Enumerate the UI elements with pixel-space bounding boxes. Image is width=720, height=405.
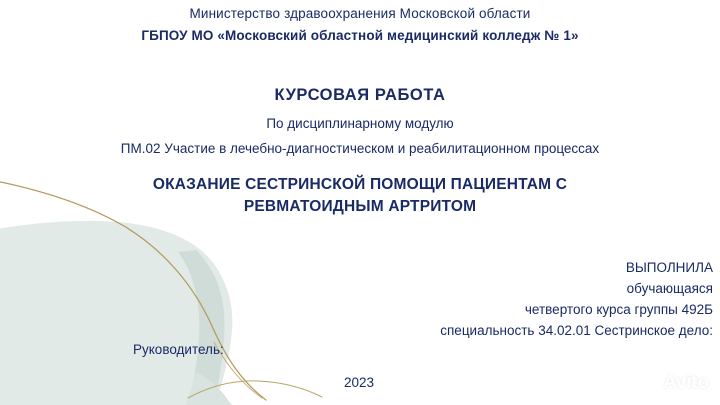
gold-curve-line-secondary <box>188 381 322 398</box>
module-label: По дисциплинарному модулю <box>0 116 720 131</box>
author-status: обучающаяся <box>440 279 713 300</box>
work-type-heading: КУРСОВАЯ РАБОТА <box>0 86 720 105</box>
year-label: 2023 <box>337 375 381 390</box>
supervisor-label: Руководитель: <box>133 342 224 357</box>
author-course-group: четвертого курса группы 492Б <box>440 300 713 321</box>
institution-header: Министерство здравоохранения Московской … <box>0 4 720 45</box>
college-line: ГБПОУ МО «Московский областной медицинск… <box>0 26 720 45</box>
avito-circles-icon <box>641 374 659 392</box>
module-name: ПМ.02 Участие в лечебно-диагностическом … <box>0 141 720 156</box>
page-title-line-1: ОКАЗАНИЕ СЕСТРИНСКОЙ ПОМОЩИ ПАЦИЕНТАМ С <box>0 174 720 196</box>
avito-watermark: Avito <box>641 372 709 394</box>
page-title: ОКАЗАНИЕ СЕСТРИНСКОЙ ПОМОЩИ ПАЦИЕНТАМ С … <box>0 174 720 219</box>
page-title-line-2: РЕВМАТОИДНЫМ АРТРИТОМ <box>0 196 720 218</box>
sage-blob-accent-shape <box>178 250 224 405</box>
presentation-title-slide: Министерство здравоохранения Московской … <box>0 0 720 405</box>
sage-blob-shape <box>0 221 232 405</box>
avito-brand-text: Avito <box>663 372 709 394</box>
author-role: ВЫПОЛНИЛА <box>440 258 713 279</box>
author-specialty: специальность 34.02.01 Сестринское дело: <box>440 321 713 342</box>
author-block: ВЫПОЛНИЛА обучающаяся четвертого курса г… <box>440 258 713 342</box>
ministry-line: Министерство здравоохранения Московской … <box>0 4 720 23</box>
sage-blob-foot-shape <box>186 372 232 405</box>
